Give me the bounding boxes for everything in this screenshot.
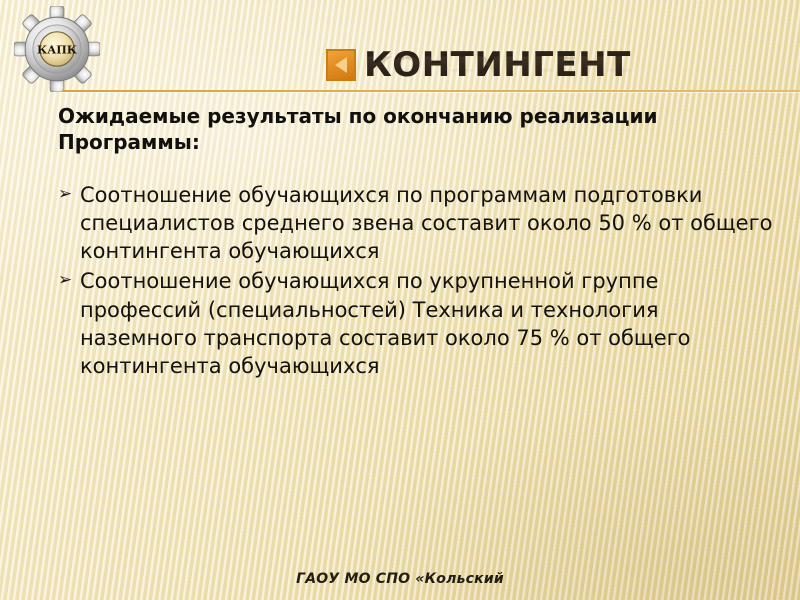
triangle-left-icon: [326, 49, 356, 81]
list-item: ➢ Соотношение обучающихся по укрупненной…: [58, 267, 776, 380]
page-title: КОНТИНГЕНТ: [364, 48, 631, 82]
bullet-list: ➢ Соотношение обучающихся по программам …: [58, 181, 776, 380]
list-item-text: Соотношение обучающихся по укрупненной г…: [80, 269, 691, 377]
header-divider: [62, 90, 800, 92]
lead-paragraph: Ожидаемые результаты по окончанию реализ…: [58, 103, 758, 155]
slide-canvas: КАПК КОНТИНГЕНТ КОНТИНГЕНТ Ожидаемые рез…: [0, 0, 800, 600]
footer-text: ГАОУ МО СПО «Кольский: [296, 571, 504, 587]
list-item-text: Соотношение обучающихся по программам по…: [80, 183, 772, 263]
slide-body: Ожидаемые результаты по окончанию реализ…: [58, 103, 776, 382]
bullet-arrow-icon: ➢: [58, 182, 72, 208]
slide-footer: ГАОУ МО СПО «Кольский: [0, 570, 800, 588]
institution-logo: КАПК: [14, 6, 100, 92]
bullet-arrow-icon: ➢: [58, 268, 72, 294]
logo-inner-text: КАПК: [37, 43, 78, 56]
list-item: ➢ Соотношение обучающихся по программам …: [58, 181, 776, 265]
slide-title-group: КОНТИНГЕНТ: [326, 42, 631, 88]
slide-header: КАПК КОНТИНГЕНТ КОНТИНГЕНТ: [0, 0, 800, 100]
